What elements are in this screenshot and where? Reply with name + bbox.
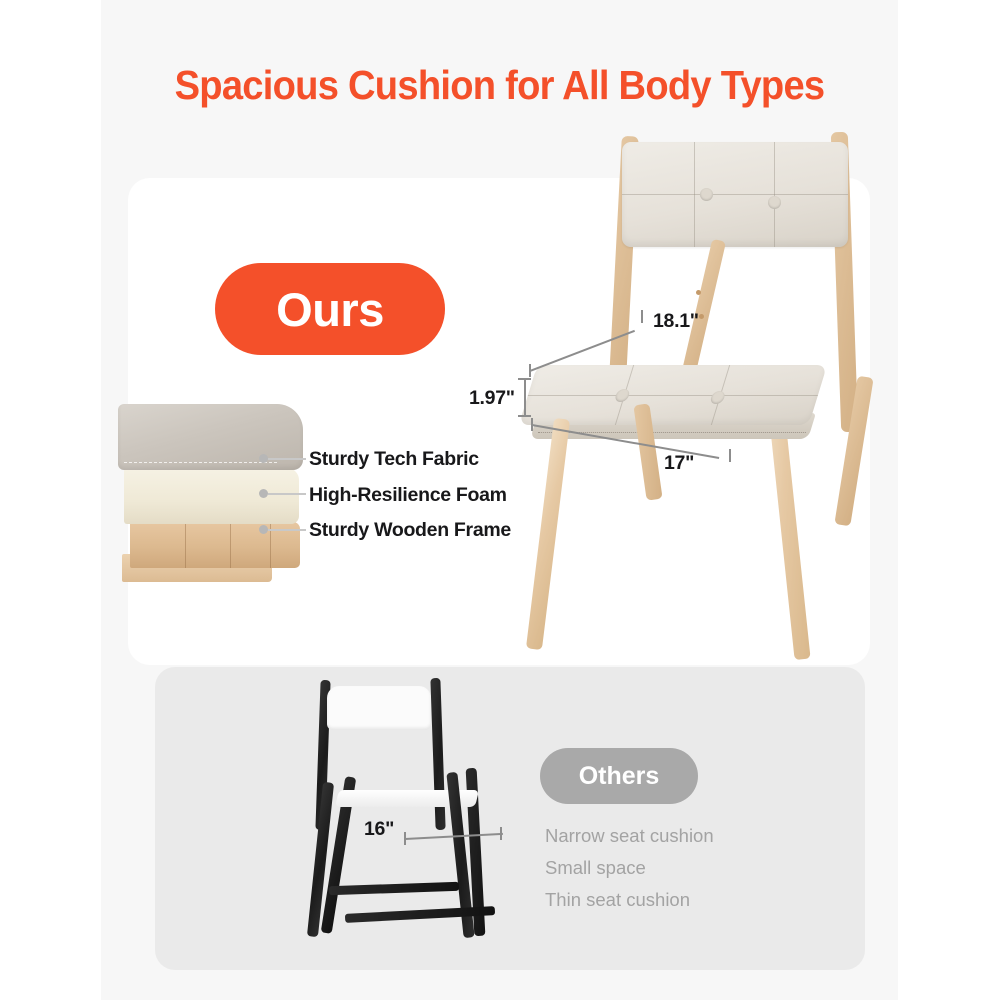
tuft-button bbox=[700, 188, 713, 201]
feature-label-foam: High-Resilience Foam bbox=[309, 484, 507, 507]
tuft-button bbox=[709, 391, 726, 404]
dimension-label-other-seat-width: 16" bbox=[364, 818, 394, 841]
dimension-tick bbox=[500, 827, 502, 840]
other-chair-backrest bbox=[327, 686, 431, 730]
others-badge-label: Others bbox=[579, 762, 660, 791]
dimension-tick bbox=[518, 378, 531, 380]
others-drawback-item: Thin seat cushion bbox=[545, 884, 865, 916]
dimension-line-thickness bbox=[524, 378, 526, 416]
leader-dot-frame bbox=[259, 525, 268, 534]
chair-leg-front-left bbox=[526, 418, 570, 650]
foam-layer bbox=[124, 468, 299, 524]
dimension-tick bbox=[518, 415, 531, 417]
page-title: Spacious Cushion for All Body Types bbox=[129, 62, 870, 109]
dimension-label-thickness: 1.97" bbox=[469, 387, 515, 410]
ours-chair-illustration bbox=[480, 118, 880, 663]
leader-dot-fabric bbox=[259, 454, 268, 463]
chair-seat-cushion bbox=[528, 365, 818, 449]
fabric-layer bbox=[118, 404, 303, 470]
leader-line-foam bbox=[268, 493, 306, 495]
dimension-tick bbox=[729, 449, 731, 462]
infographic-stage: Spacious Cushion for All Body Types Ours… bbox=[0, 0, 1000, 1000]
cushion-layers-illustration bbox=[110, 398, 310, 598]
feature-label-fabric: Sturdy Tech Fabric bbox=[309, 448, 479, 471]
dimension-tick bbox=[641, 310, 643, 323]
others-chair-illustration bbox=[285, 672, 535, 950]
others-drawback-item: Narrow seat cushion bbox=[545, 820, 865, 852]
dimension-tick bbox=[404, 832, 406, 845]
ours-badge-label: Ours bbox=[276, 282, 384, 337]
dimension-label-seat-width: 18.1" bbox=[653, 310, 699, 333]
dimension-label-seat-depth: 17" bbox=[664, 452, 694, 475]
leader-line-fabric bbox=[268, 458, 306, 460]
others-drawback-list: Narrow seat cushion Small space Thin sea… bbox=[545, 820, 865, 916]
dimension-tick bbox=[529, 364, 531, 377]
dimension-tick bbox=[531, 418, 533, 431]
tuft-button bbox=[768, 196, 781, 209]
leader-line-frame bbox=[268, 529, 306, 531]
leader-dot-foam bbox=[259, 489, 268, 498]
others-badge: Others bbox=[540, 748, 698, 804]
ours-badge: Ours bbox=[215, 263, 445, 355]
others-drawback-item: Small space bbox=[545, 852, 865, 884]
chair-hinge-icon bbox=[696, 290, 701, 295]
chair-backrest-cushion bbox=[622, 142, 848, 247]
chair-hinge-icon bbox=[699, 314, 704, 319]
tuft-button bbox=[614, 389, 631, 402]
other-chair-stretcher bbox=[329, 882, 459, 896]
other-chair-post-right bbox=[430, 678, 445, 830]
